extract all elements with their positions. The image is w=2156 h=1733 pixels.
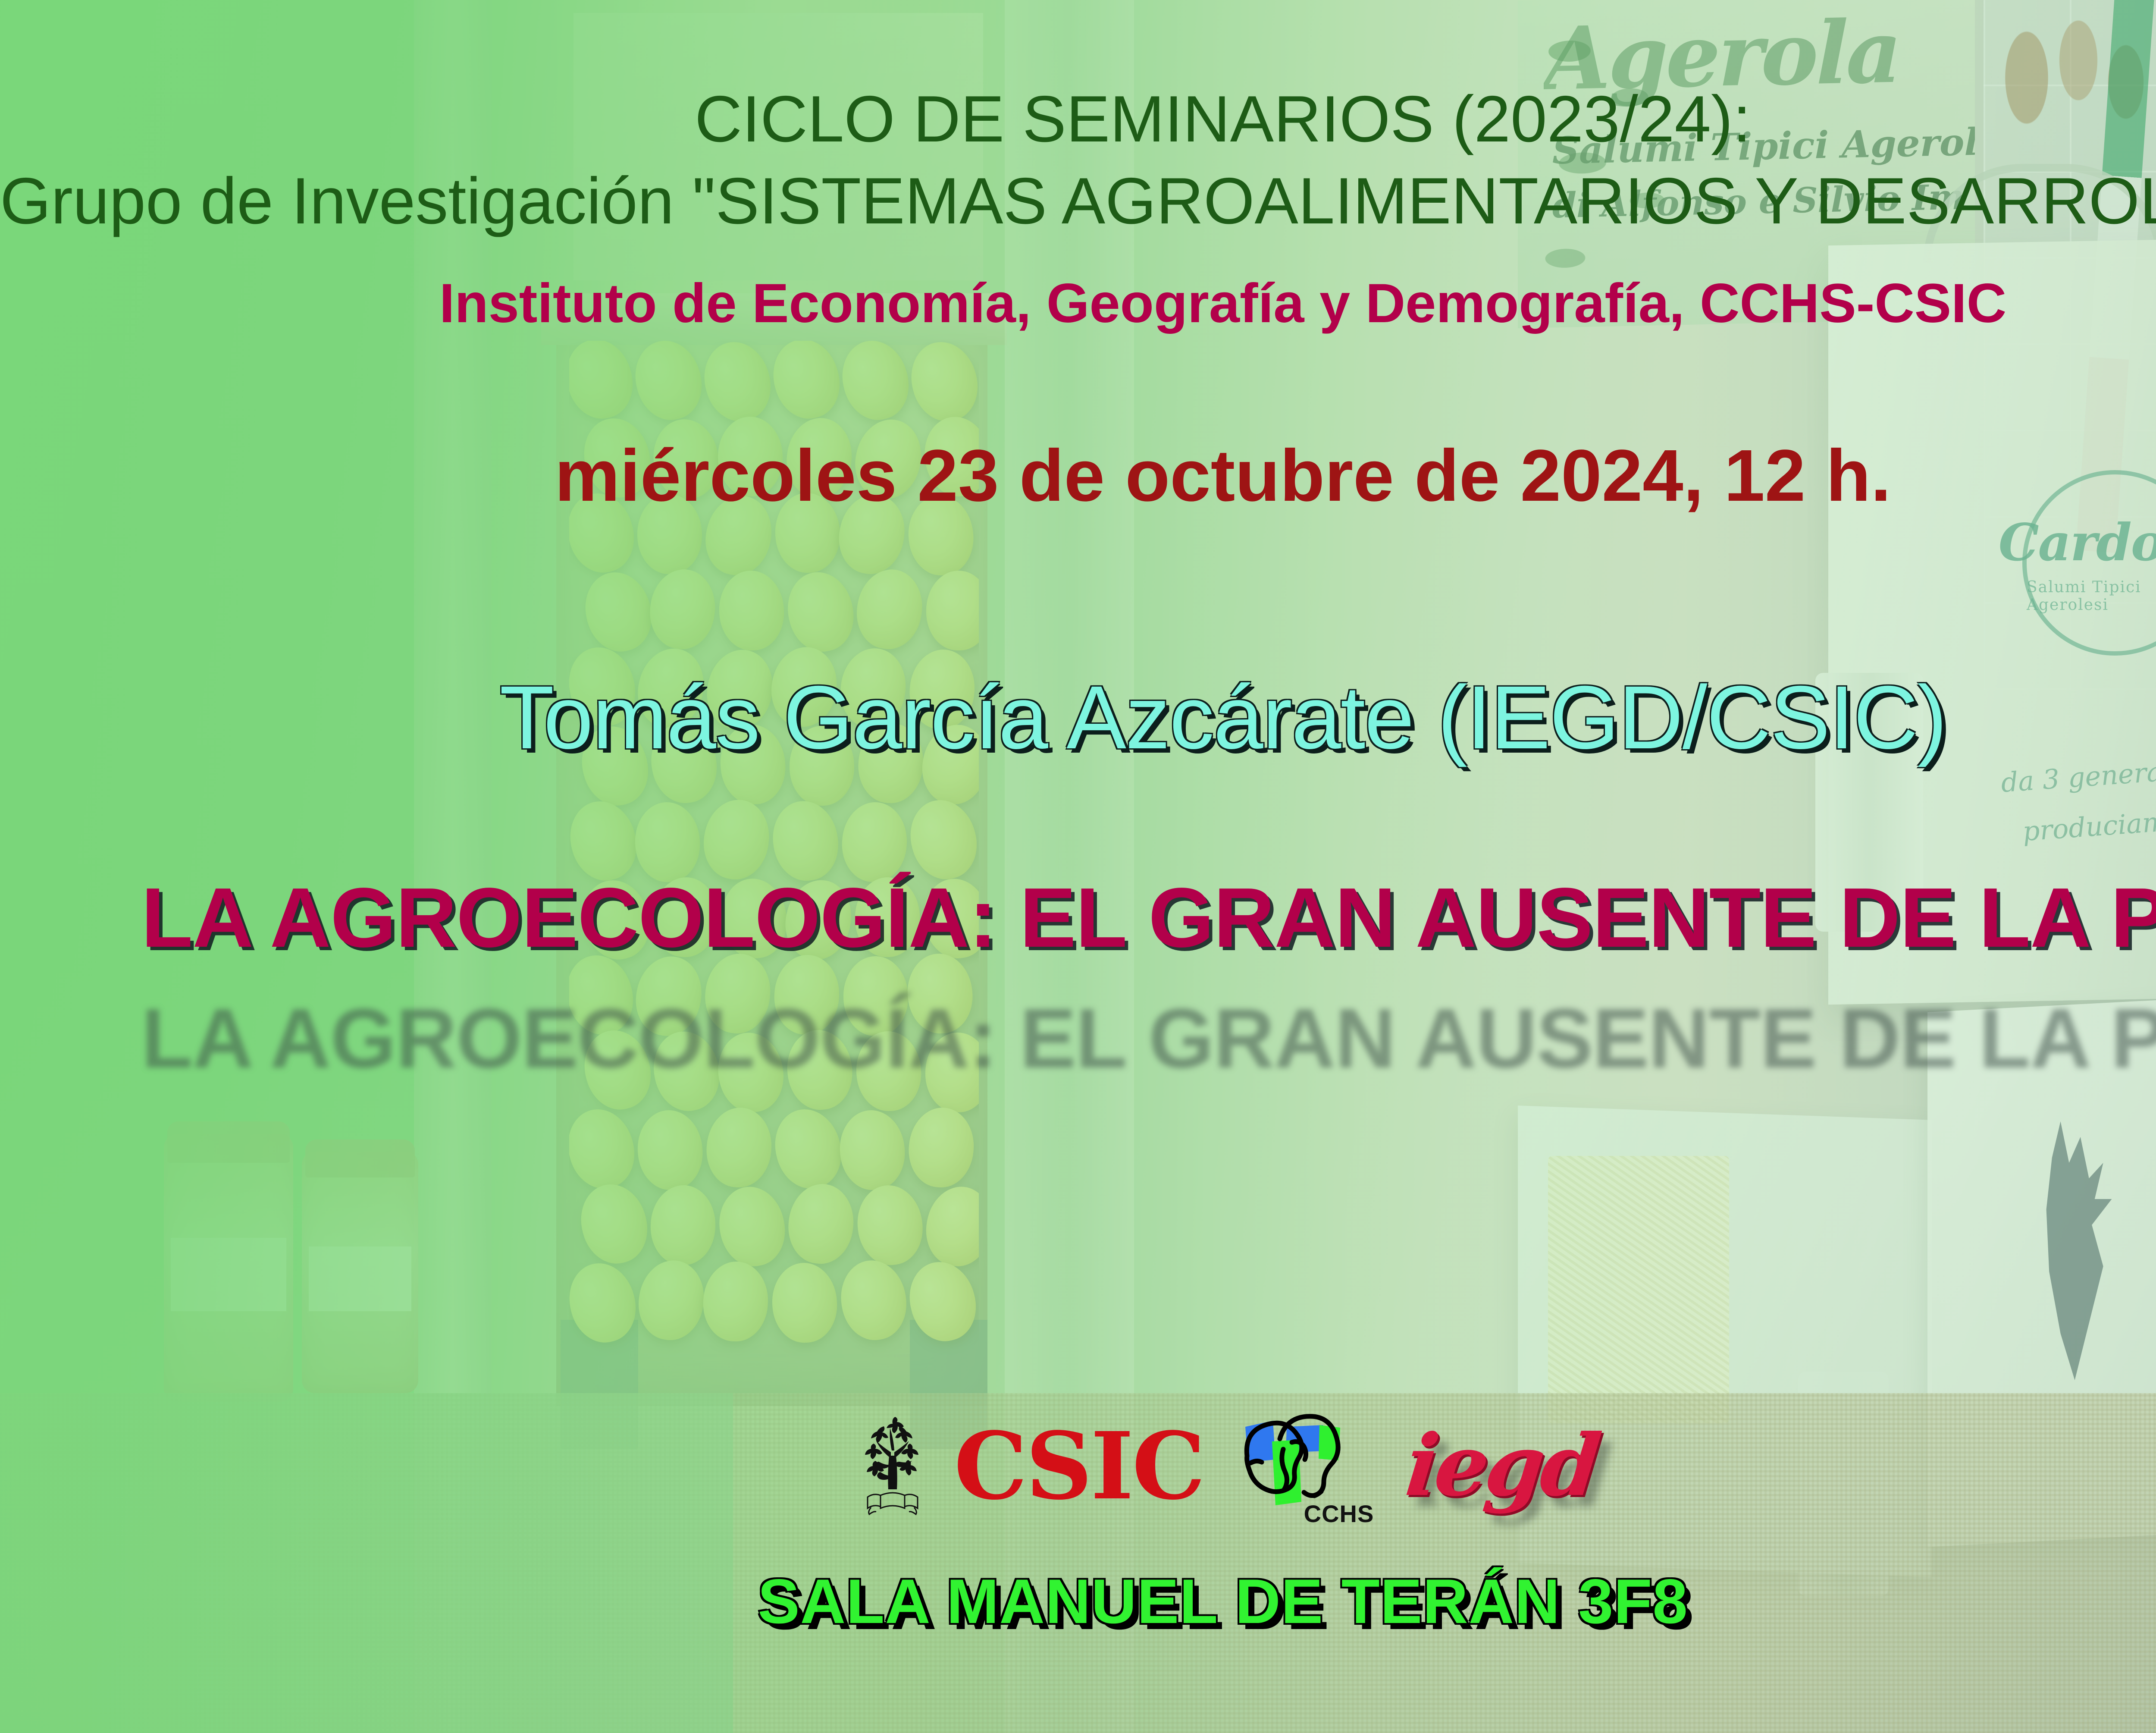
csic-wordmark: CSIC [954,1420,1203,1513]
seminar-series-heading: CICLO DE SEMINARIOS (2023/24): [0,86,2156,152]
speaker-name: Tomás García Azcárate (IEGD/CSIC) [0,673,2156,763]
seminar-title-ghost: LA AGROECOLOGÍA: EL GRAN AUSENTE DE LA P… [0,996,2156,1081]
cchs-logo-icon: CCHS [1238,1408,1381,1525]
institute-line: Instituto de Economía, Geografía y Demog… [0,276,2156,331]
cchs-label: CCHS [1304,1500,1374,1528]
room-location: SALA MANUEL DE TERÁN 3F8 [0,1570,2156,1633]
seminar-date: miércoles 23 de octubre de 2024, 12 h. [0,439,2156,512]
poster-content: CICLO DE SEMINARIOS (2023/24): Grupo de … [0,0,2156,1733]
iegd-wordmark: iegd [1401,1416,1602,1515]
logo-strip: CSIC [0,1404,2156,1529]
csic-tree-emblem-icon [858,1417,927,1516]
iegd-logo: iegd [1407,1413,1588,1520]
research-group-heading: Grupo de Investigación "SISTEMAS AGROALI… [0,168,2156,234]
seminar-title: LA AGROECOLOGÍA: EL GRAN AUSENTE DE LA P… [0,876,2156,960]
seminar-poster: Agerola Salumi Tipici Agerolesi di Alfon… [0,0,2156,1733]
